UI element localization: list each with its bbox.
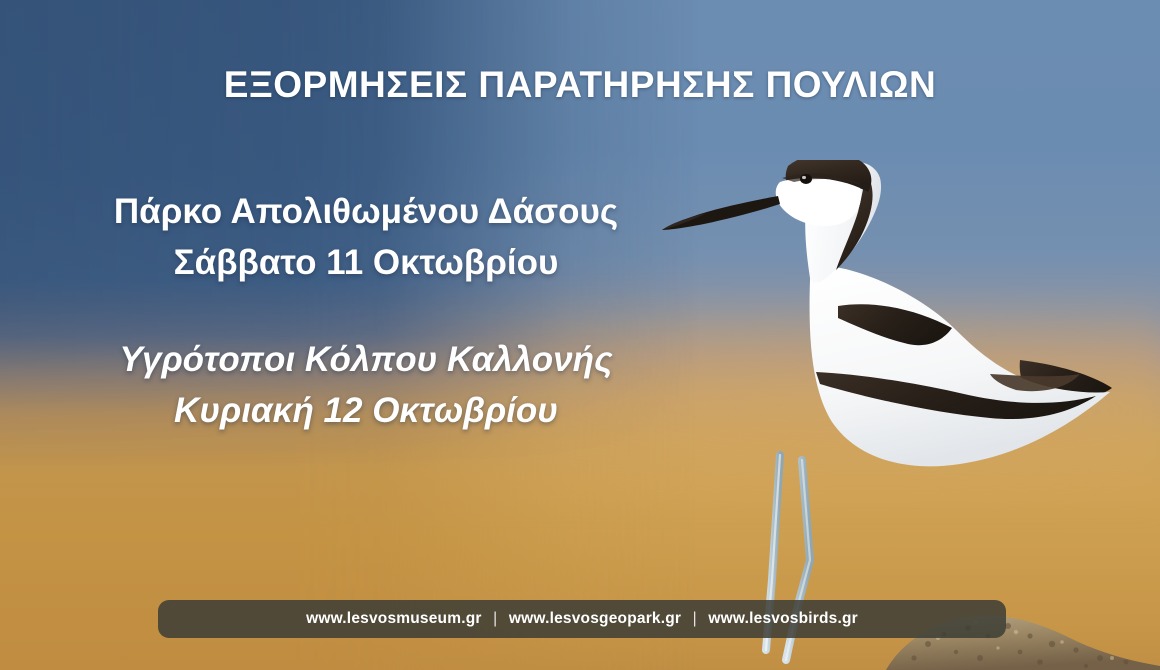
footer-separator-1: | <box>486 610 504 627</box>
footer-links: www.lesvosmuseum.gr | www.lesvosgeopark.… <box>306 610 858 628</box>
bird-face <box>776 178 861 226</box>
bird-eye <box>800 174 812 184</box>
avocet-bird-image <box>660 160 1160 670</box>
page-title: ΕΞΟΡΜΗΣΕΙΣ ΠΑΡΑΤΗΡΗΣΗΣ ΠΟΥΛΙΩΝ <box>0 64 1160 106</box>
footer-separator-2: | <box>686 610 704 627</box>
event-1-date: Σάββατο 11 Οκτωβρίου <box>16 237 716 288</box>
poster-canvas: ΕΞΟΡΜΗΣΕΙΣ ΠΑΡΑΤΗΡΗΣΗΣ ΠΟΥΛΙΩΝ Πάρκο Απο… <box>0 0 1160 670</box>
event-block-2: Υγρότοποι Κόλπου Καλλονής Κυριακή 12 Οκτ… <box>16 334 716 436</box>
footer-bar: www.lesvosmuseum.gr | www.lesvosgeopark.… <box>158 600 1006 638</box>
bird-body <box>810 266 1110 466</box>
event-2-location: Υγρότοποι Κόλπου Καλλονής <box>16 334 716 385</box>
footer-link-birds[interactable]: www.lesvosbirds.gr <box>708 610 857 627</box>
event-2-date: Κυριακή 12 Οκτωβρίου <box>16 385 716 436</box>
footer-link-geopark[interactable]: www.lesvosgeopark.gr <box>509 610 681 627</box>
footer-link-museum[interactable]: www.lesvosmuseum.gr <box>306 610 482 627</box>
event-block-1: Πάρκο Απολιθωμένου Δάσους Σάββατο 11 Οκτ… <box>16 186 716 288</box>
event-1-location: Πάρκο Απολιθωμένου Δάσους <box>16 186 716 237</box>
